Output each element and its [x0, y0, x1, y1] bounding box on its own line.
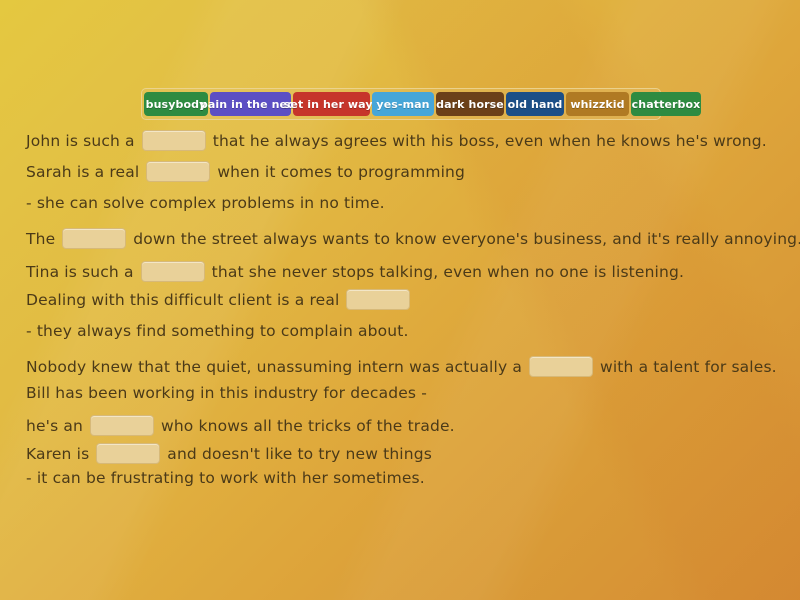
sentence-text: down the street always wants to know eve…	[133, 230, 800, 248]
answer-blank[interactable]	[96, 443, 160, 464]
sentence-line: Dealing with this difficult client is a …	[26, 289, 417, 310]
word-tile[interactable]: set in her ways	[293, 92, 370, 116]
sentence-text: Tina is such a	[26, 263, 134, 281]
sentence-line: Bill has been working in this industry f…	[26, 384, 427, 402]
sentence-text: that she never stops talking, even when …	[212, 263, 684, 281]
word-tile[interactable]: chatterbox	[631, 92, 701, 116]
sentence-text: when it comes to programming	[217, 163, 465, 181]
word-tile[interactable]: dark horse	[436, 92, 504, 116]
sentence-text: John is such a	[26, 132, 135, 150]
word-bank: busybodypain in the neckset in her waysy…	[141, 88, 661, 120]
sentence-line: Nobody knew that the quiet, unassuming i…	[26, 356, 777, 377]
sentence-text: he's an	[26, 417, 83, 435]
answer-blank[interactable]	[146, 161, 210, 182]
answer-blank[interactable]	[346, 289, 410, 310]
answer-blank[interactable]	[141, 261, 205, 282]
sentence-line: he's anwho knows all the tricks of the t…	[26, 415, 455, 436]
sentence-line: Thedown the street always wants to know …	[26, 228, 800, 249]
sentence-text: and doesn't like to try new things	[167, 445, 432, 463]
answer-blank[interactable]	[62, 228, 126, 249]
sentence-text: - they always find something to complain…	[26, 322, 409, 340]
sentence-line: - she can solve complex problems in no t…	[26, 194, 385, 212]
answer-blank[interactable]	[529, 356, 593, 377]
word-tile[interactable]: busybody	[144, 92, 208, 116]
word-tile[interactable]: yes-man	[372, 92, 434, 116]
sentence-text: Bill has been working in this industry f…	[26, 384, 427, 402]
sentence-line: Tina is such athat she never stops talki…	[26, 261, 684, 282]
sentence-text: - it can be frustrating to work with her…	[26, 469, 425, 487]
answer-blank[interactable]	[142, 130, 206, 151]
sentence-text: Karen is	[26, 445, 89, 463]
sentence-text: with a talent for sales.	[600, 358, 777, 376]
sentence-line: John is such athat he always agrees with…	[26, 130, 767, 151]
sentence-text: Sarah is a real	[26, 163, 139, 181]
sentence-text: Nobody knew that the quiet, unassuming i…	[26, 358, 522, 376]
word-tile[interactable]: old hand	[506, 92, 564, 116]
activity-canvas: busybodypain in the neckset in her waysy…	[0, 0, 800, 600]
word-tile[interactable]: whizzkid	[566, 92, 629, 116]
sentence-text: Dealing with this difficult client is a …	[26, 291, 339, 309]
sentence-text: The	[26, 230, 55, 248]
sentence-line: Karen isand doesn't like to try new thin…	[26, 443, 432, 464]
word-tile[interactable]: pain in the neck	[210, 92, 291, 116]
sentence-line: Sarah is a realwhen it comes to programm…	[26, 161, 465, 182]
sentence-text: - she can solve complex problems in no t…	[26, 194, 385, 212]
sentence-text: who knows all the tricks of the trade.	[161, 417, 455, 435]
sentence-line: - they always find something to complain…	[26, 322, 409, 340]
sentence-line: - it can be frustrating to work with her…	[26, 469, 425, 487]
sentence-text: that he always agrees with his boss, eve…	[213, 132, 767, 150]
answer-blank[interactable]	[90, 415, 154, 436]
